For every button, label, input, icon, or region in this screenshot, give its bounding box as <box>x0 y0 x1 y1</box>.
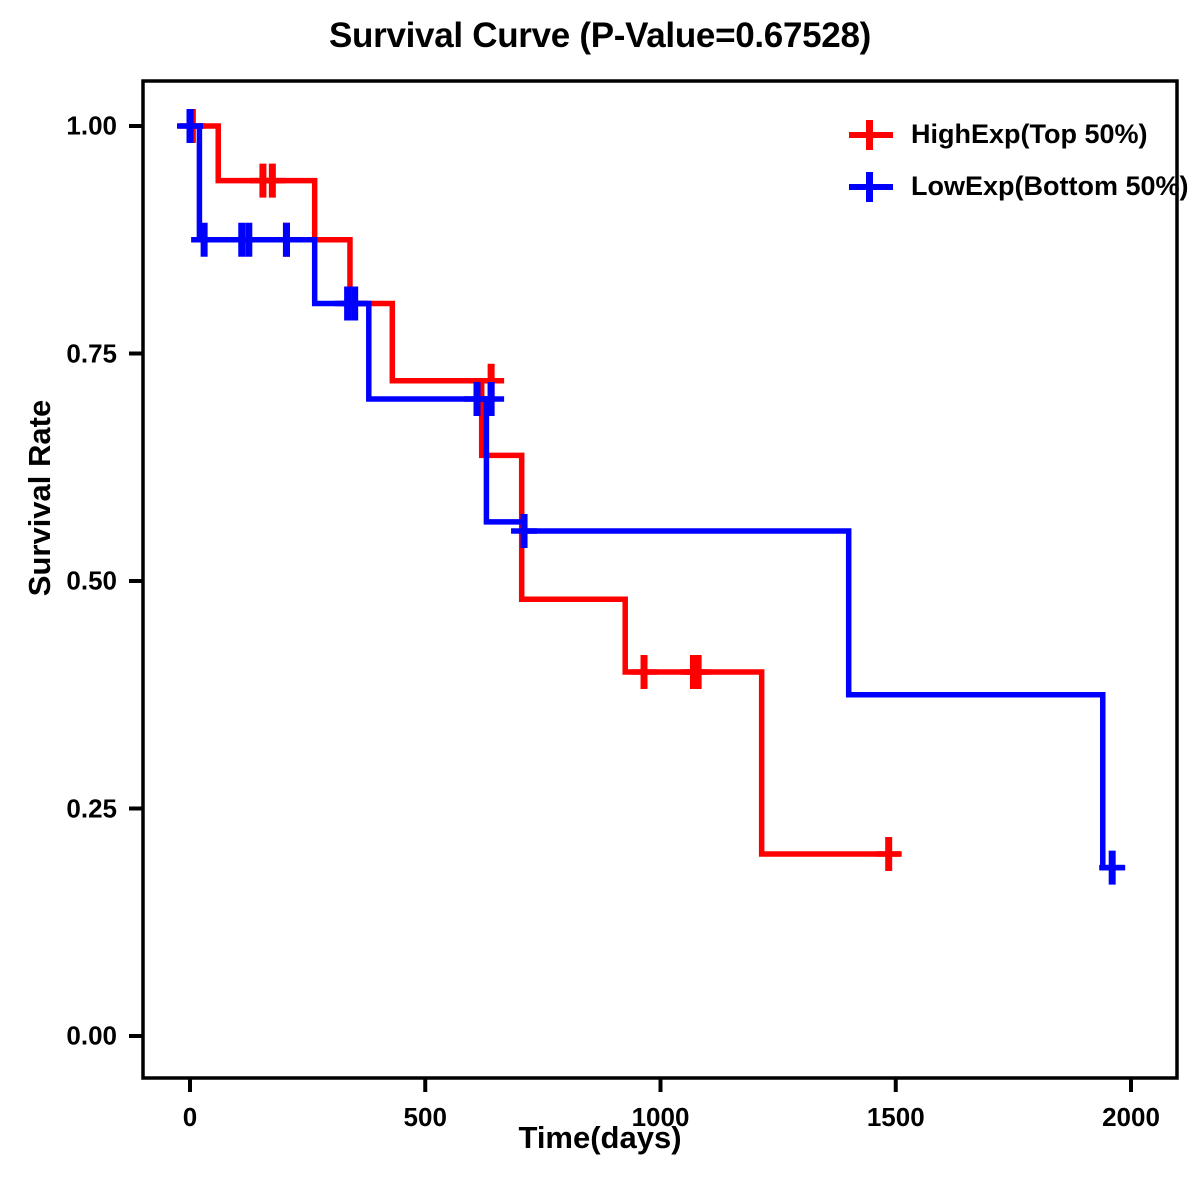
plot-border <box>143 81 1177 1078</box>
censor-mark-0-8 <box>685 655 711 689</box>
series-line-0 <box>190 126 900 854</box>
censor-mark-1-9 <box>511 514 537 548</box>
y-tick-label-4: 1.00 <box>0 111 117 142</box>
survival-curve-figure: Survival Curve (P-Value=0.67528) 0.000.2… <box>0 0 1200 1200</box>
censor-mark-1-1 <box>191 223 217 257</box>
legend-censor-icon <box>845 117 897 151</box>
legend: HighExp(Top 50%)LowExp(Bottom 50%) <box>845 108 1189 212</box>
censor-mark-0-6 <box>631 655 657 689</box>
y-tick-label-2: 0.50 <box>0 566 117 597</box>
legend-label-0: HighExp(Top 50%) <box>897 119 1148 150</box>
censor-mark-1-4 <box>273 223 299 257</box>
y-tick-label-1: 0.25 <box>0 793 117 824</box>
x-axis-title: Time(days) <box>0 1120 1200 1156</box>
y-tick-label-0: 0.00 <box>0 1021 117 1052</box>
series-lines <box>190 126 1124 868</box>
y-tick-label-3: 0.75 <box>0 338 117 369</box>
legend-item-1[interactable]: LowExp(Bottom 50%) <box>845 160 1189 212</box>
legend-vbar <box>866 120 873 150</box>
legend-item-0[interactable]: HighExp(Top 50%) <box>845 108 1189 160</box>
censor-mark-0-9 <box>876 837 902 871</box>
y-axis-title: Survival Rate <box>22 368 58 628</box>
legend-vbar <box>866 172 873 202</box>
censor-marks <box>177 109 1125 885</box>
legend-censor-icon <box>845 169 897 203</box>
plot-frame <box>143 81 1177 1078</box>
axis-ticks <box>129 126 1131 1092</box>
legend-label-1: LowExp(Bottom 50%) <box>897 171 1189 202</box>
